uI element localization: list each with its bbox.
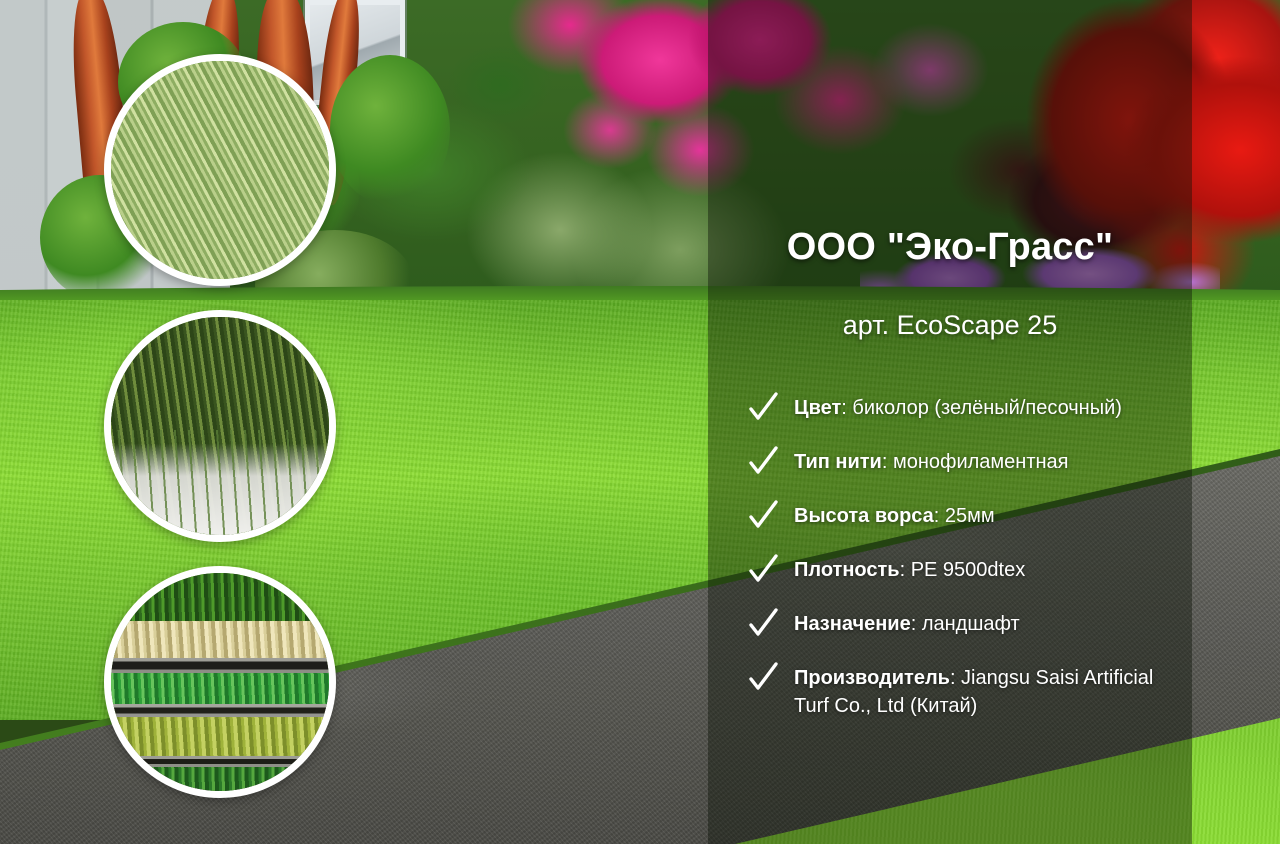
feature-value: : 25мм	[934, 505, 995, 527]
check-icon	[746, 391, 780, 425]
feature-item-manufacturer: Производитель: Jiangsu Saisi Artificial …	[738, 664, 1188, 720]
info-panel: ООО "Эко-Грасс" арт. EcoScape 25 Цвет: б…	[708, 0, 1192, 844]
turf-layer	[104, 767, 336, 791]
turf-backing-layer	[104, 658, 336, 673]
check-icon	[746, 445, 780, 479]
feature-label: Высота ворса	[794, 505, 934, 527]
feature-item-purpose: Назначение: ландшафт	[738, 610, 1188, 651]
turf-layer	[104, 621, 336, 658]
article-subtitle: арт. EcoScape 25	[708, 310, 1192, 341]
turf-fibers-top-view-image	[111, 61, 329, 279]
feature-item-thread-type: Тип нити: монофиламентная	[738, 448, 1188, 489]
turf-backing-layer	[104, 704, 336, 717]
turf-layer	[104, 717, 336, 756]
feature-list: Цвет: биколор (зелёный/песочный) Тип нит…	[738, 394, 1188, 720]
company-title: ООО "Эко-Грасс"	[708, 226, 1192, 269]
feature-item-pile-height: Высота ворса: 25мм	[738, 502, 1188, 543]
sample-photo-turf-fibers-top-view	[104, 54, 336, 286]
promo-banner: ООО "Эко-Грасс" арт. EcoScape 25 Цвет: б…	[0, 0, 1280, 844]
sample-photo-turf-blades-side-view	[104, 310, 336, 542]
check-icon	[746, 607, 780, 641]
sample-photo-turf-layers-cross-section	[104, 566, 336, 798]
feature-item-color: Цвет: биколор (зелёный/песочный)	[738, 394, 1188, 435]
turf-blades-side-view-image	[111, 317, 329, 535]
turf-layers-cross-section-image	[111, 573, 329, 791]
check-icon	[746, 553, 780, 587]
turf-backing-layer	[104, 756, 336, 767]
check-icon	[746, 661, 780, 695]
feature-label: Цвет	[794, 397, 841, 419]
turf-layer	[104, 573, 336, 621]
shrub-foliage	[330, 55, 450, 205]
check-icon	[746, 499, 780, 533]
feature-label: Тип нити	[794, 451, 882, 473]
feature-label: Плотность	[794, 559, 900, 581]
feature-value: : биколор (зелёный/песочный)	[841, 397, 1122, 419]
feature-item-density: Плотность: PE 9500dtex	[738, 556, 1188, 597]
turf-layer	[104, 673, 336, 704]
feature-label: Назначение	[794, 613, 911, 635]
feature-value: : ландшафт	[911, 613, 1020, 635]
feature-label: Производитель	[794, 667, 950, 689]
feature-value: : PE 9500dtex	[900, 559, 1026, 581]
feature-value: : монофиламентная	[882, 451, 1069, 473]
